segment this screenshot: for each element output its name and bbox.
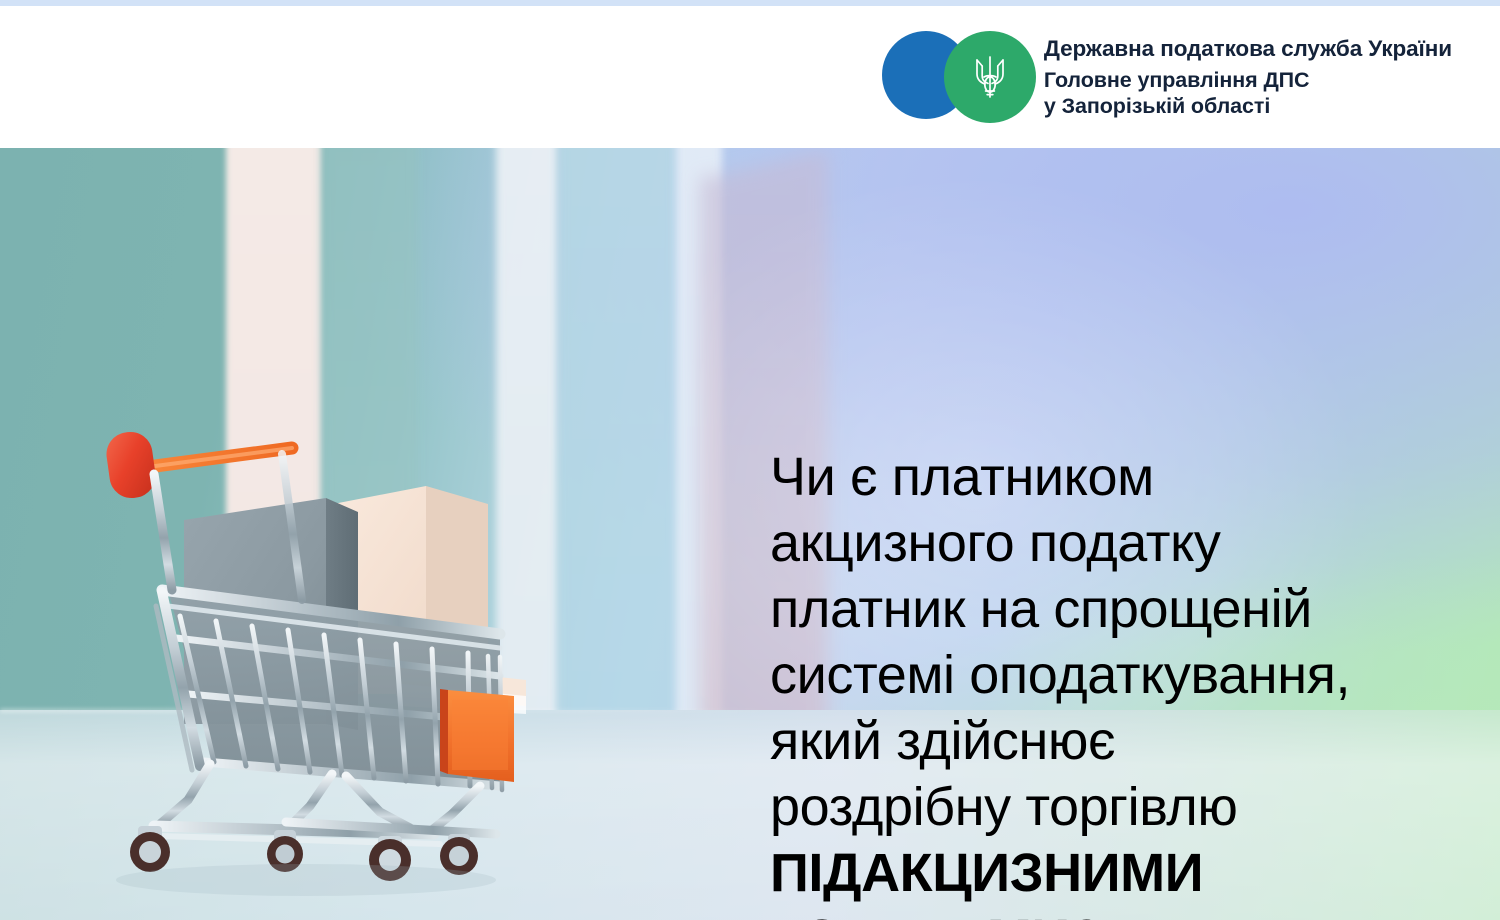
org-name-department: Головне управління ДПС (1044, 67, 1452, 93)
green-circle-icon (944, 31, 1036, 123)
brand-text-block: Державна податкова служба України Головн… (1044, 35, 1452, 120)
headline-line-2: акцизного податку (770, 510, 1470, 576)
headline-line-1: Чи є платником (770, 444, 1470, 510)
headline-line-8: ТОВАРАМИ? (770, 906, 1470, 920)
shopping-cart-illustration (96, 394, 526, 864)
headline-line-4: системі оподаткування, (770, 642, 1470, 708)
ukraine-trident-icon (973, 54, 1007, 100)
org-name-region: у Запорізькій області (1044, 93, 1452, 119)
brand-lockup: Державна податкова служба України Головн… (882, 29, 1452, 125)
headline-line-6: роздрібну торгівлю (770, 774, 1470, 840)
headline-question: Чи є платником акцизного податку платник… (770, 444, 1470, 920)
headline-line-5: який здійснює (770, 708, 1470, 774)
dps-logo (882, 29, 1022, 125)
headline-line-3: платник на спрощеній (770, 576, 1470, 642)
page-header: Державна податкова служба України Головн… (0, 6, 1500, 148)
poster-canvas: Державна податкова служба України Головн… (0, 0, 1500, 920)
hero-stage: Чи є платником акцизного податку платник… (0, 148, 1500, 920)
org-name-national: Державна податкова служба України (1044, 35, 1452, 62)
headline-line-7: ПІДАКЦИЗНИМИ (770, 840, 1470, 906)
orange-package (440, 689, 514, 782)
